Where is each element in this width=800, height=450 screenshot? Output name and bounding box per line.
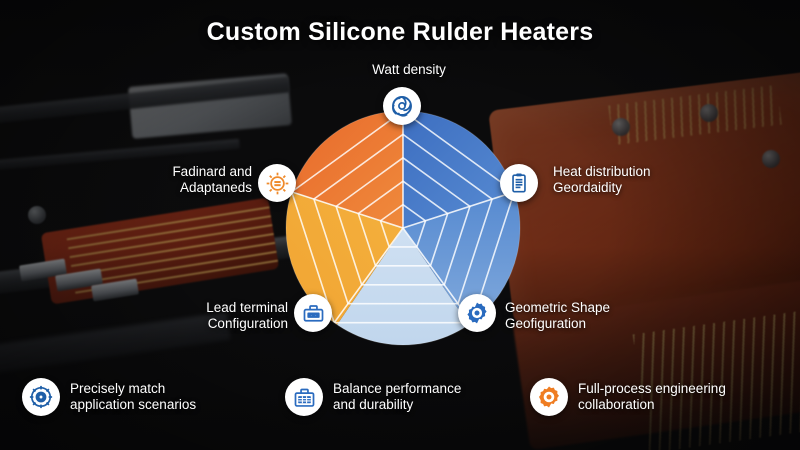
- toolbox-grid-icon: [285, 378, 323, 416]
- feature-label: Precisely match application scenarios: [70, 381, 196, 413]
- feature-item-precisely-match[interactable]: Precisely match application scenarios: [22, 378, 196, 416]
- node-label-lead-terminal: Lead terminal Configuration: [140, 300, 288, 332]
- node-label-watt-density: Watt density: [334, 62, 484, 78]
- gear-cog-icon[interactable]: [458, 294, 496, 332]
- feature-label: Balance performance and durability: [333, 381, 461, 413]
- toolbox-icon[interactable]: [294, 294, 332, 332]
- node-label-heat-distribution: Heat distribution Geordaidity: [553, 164, 703, 196]
- target-gear-icon: [22, 378, 60, 416]
- clipboard-icon[interactable]: [500, 164, 538, 202]
- feature-row: Precisely match application scenarios Ba…: [0, 378, 800, 426]
- feature-item-balance-performance[interactable]: Balance performance and durability: [285, 378, 461, 416]
- node-label-geometric-shape: Geometric Shape Geofiguration: [505, 300, 665, 332]
- page-title: Custom Silicone Rulder Heaters: [0, 18, 800, 47]
- gear-outline-icon: [530, 378, 568, 416]
- sun-heat-icon[interactable]: [258, 164, 296, 202]
- slide-canvas: Custom Silicone Rulder Heaters: [0, 0, 800, 450]
- feature-item-full-process[interactable]: Full-process engineering collaboration: [530, 378, 726, 416]
- feature-label: Full-process engineering collaboration: [578, 381, 726, 413]
- node-label-fadinard-adaptaneds: Fadinard and Adaptaneds: [118, 164, 252, 196]
- aperture-icon[interactable]: [383, 87, 421, 125]
